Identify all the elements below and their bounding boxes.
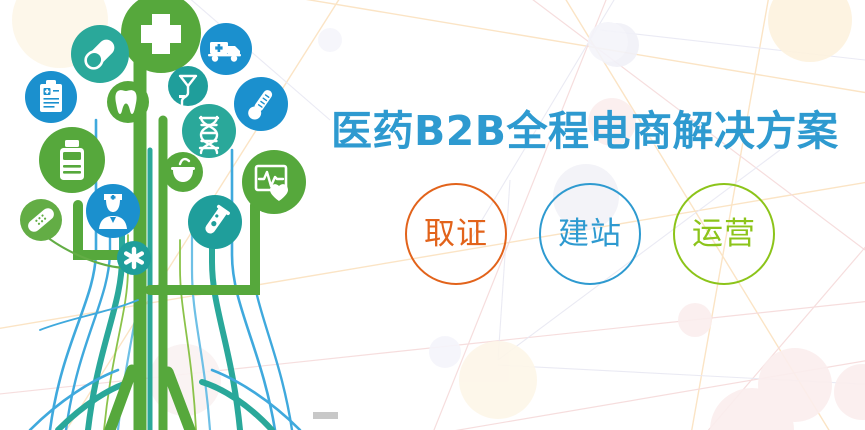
promo-banner: 医药B2B全程电商解决方案 取证 建站 运营 bbox=[0, 0, 865, 430]
service-pill-site-building-label: 建站 bbox=[558, 219, 622, 250]
tooth-icon bbox=[107, 81, 149, 123]
service-pill-row: 取证 建站 运营 bbox=[405, 183, 775, 285]
thermometer-icon bbox=[234, 77, 288, 131]
iv-drip-icon bbox=[168, 66, 208, 106]
ecg-heart-monitor-icon bbox=[242, 150, 306, 214]
nurse-avatar-icon bbox=[86, 184, 140, 238]
clipboard-chart-icon bbox=[25, 71, 77, 123]
medical-cross-icon bbox=[121, 0, 201, 73]
dna-helix-icon bbox=[182, 104, 236, 158]
bandage-icon bbox=[20, 199, 62, 241]
ambulance-icon bbox=[200, 23, 252, 75]
service-pill-certification-label: 取证 bbox=[424, 219, 488, 250]
medicine-bottle-icon bbox=[39, 127, 105, 193]
service-pill-site-building[interactable]: 建站 bbox=[539, 183, 641, 285]
medical-icon-tree bbox=[0, 0, 330, 430]
pill-capsule-icon bbox=[71, 25, 129, 83]
service-pill-operations[interactable]: 运营 bbox=[673, 183, 775, 285]
grey-marker bbox=[313, 412, 338, 419]
page-title: 医药B2B全程电商解决方案 bbox=[331, 107, 839, 155]
service-pill-operations-label: 运营 bbox=[692, 219, 756, 250]
star-of-life-icon bbox=[117, 241, 151, 275]
mortar-pestle-icon bbox=[163, 152, 203, 192]
service-pill-certification[interactable]: 取证 bbox=[405, 183, 507, 285]
test-tube-icon bbox=[188, 195, 242, 249]
